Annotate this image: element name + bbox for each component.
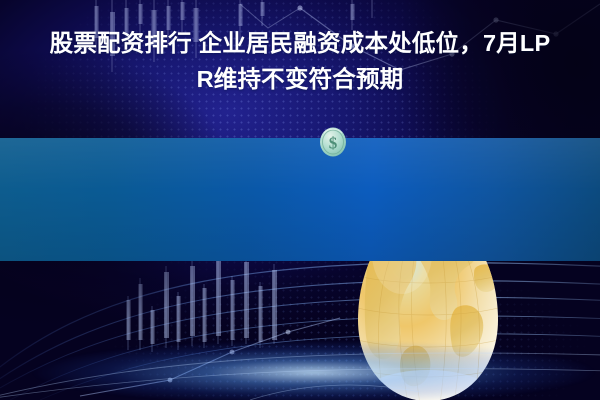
title-banner bbox=[0, 138, 600, 261]
dollar-coin-icon: $ bbox=[318, 125, 348, 157]
coin-dollar-symbol: $ bbox=[329, 134, 338, 153]
page-title: 股票配资排行 企业居民融资成本处低位，7月LP R维持不变符合预期 bbox=[0, 0, 600, 123]
title-line-1: 股票配资排行 企业居民融资成本处低位，7月LP bbox=[50, 28, 551, 59]
title-line-2: R维持不变符合预期 bbox=[197, 64, 404, 95]
banner-image: $ 股票配资排行 企业居民融资成本处低位，7月LP R维持不变符合预期 bbox=[0, 0, 600, 400]
title-banner-sheen bbox=[0, 138, 600, 261]
